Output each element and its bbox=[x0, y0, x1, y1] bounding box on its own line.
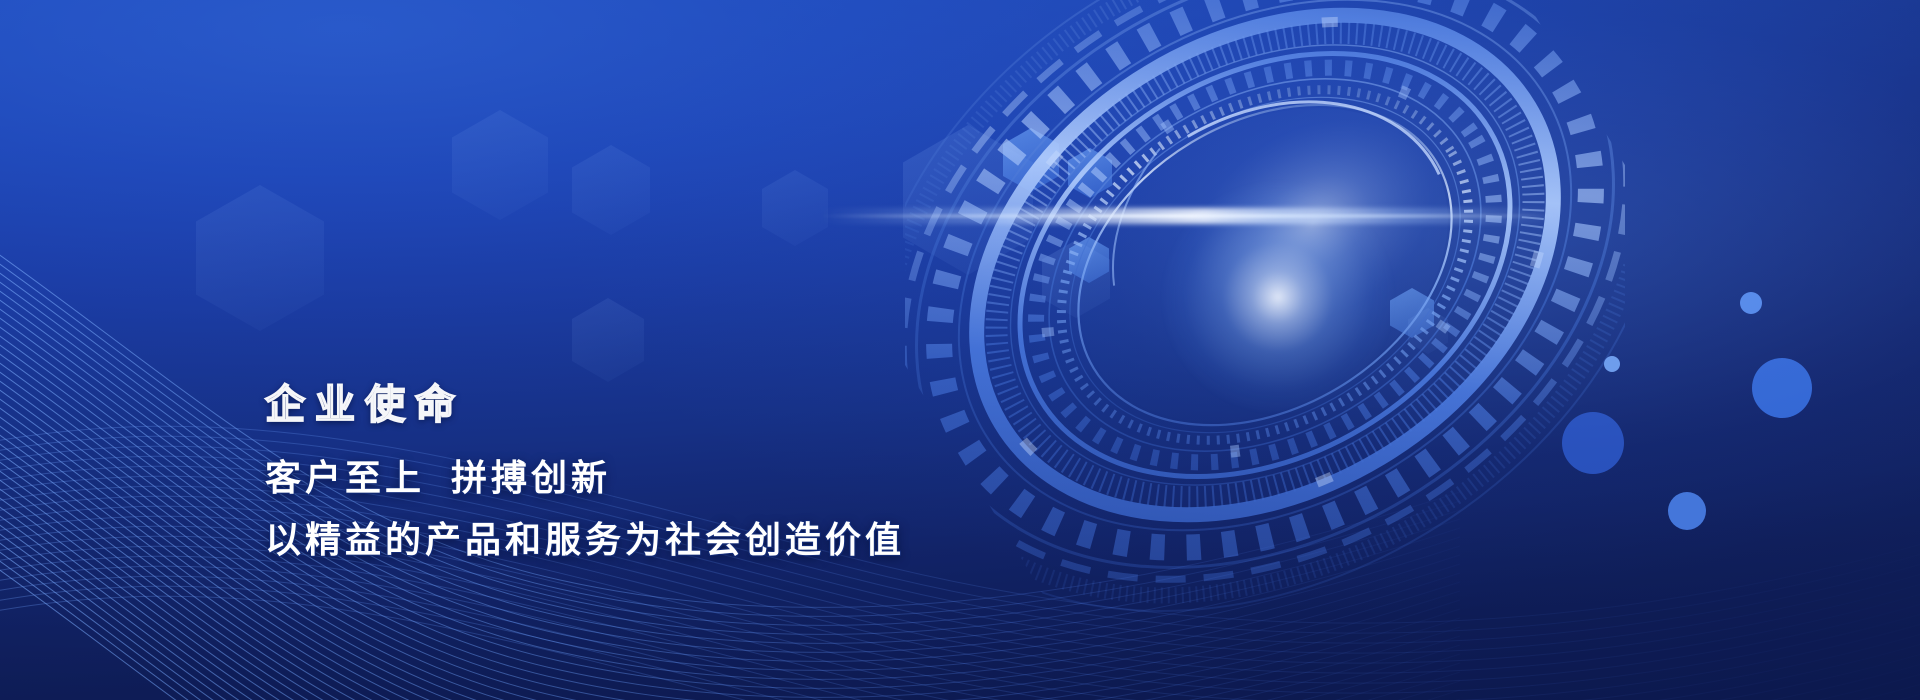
background-vignette bbox=[0, 0, 1920, 700]
mission-text-block: 企业使命 客户至上拼搏创新 以精益的产品和服务为社会创造价值 bbox=[265, 385, 1025, 558]
mission-slogan-part-a: 客户至上 bbox=[265, 457, 425, 498]
mission-slogan-part-b: 拼搏创新 bbox=[451, 457, 611, 498]
corporate-mission-banner: 企业使命 客户至上拼搏创新 以精益的产品和服务为社会创造价值 bbox=[0, 0, 1920, 700]
page-title: 企业使命 bbox=[265, 385, 1025, 425]
mission-slogan-line-2: 以精益的产品和服务为社会创造价值 bbox=[265, 522, 1025, 558]
mission-slogan-line-1: 客户至上拼搏创新 bbox=[265, 460, 1025, 496]
